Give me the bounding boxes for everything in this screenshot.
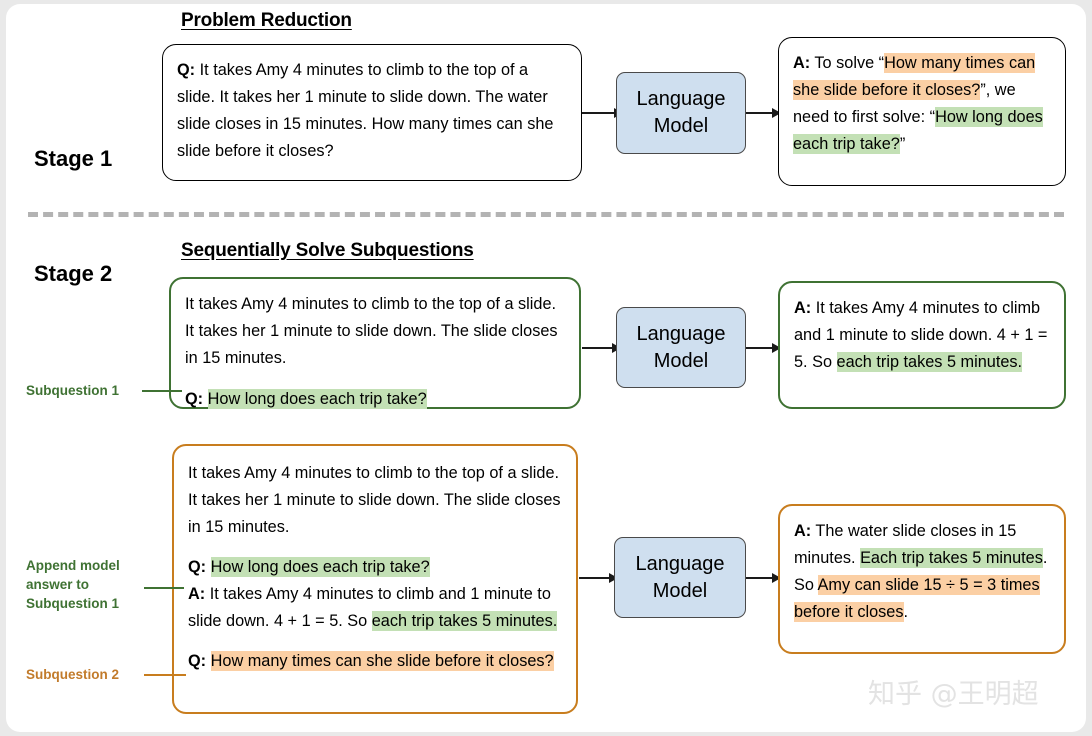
language-model-box-stage1: Language Model (616, 72, 746, 154)
stage-1-question-box: Q: It takes Amy 4 minutes to climb to th… (162, 44, 582, 181)
stage-2-section-title: Sequentially Solve Subquestions (181, 240, 474, 262)
append-answer-connector (144, 587, 184, 589)
stage-1-answer-text: A: To solve “How many times can she slid… (793, 50, 1051, 158)
stage-2-label: Stage 2 (34, 261, 112, 287)
round2-q1-prefix: Q: (188, 558, 206, 576)
stage-1-section-title: Problem Reduction (181, 10, 352, 32)
subquestion-1-prompt-box: It takes Amy 4 minutes to climb to the t… (169, 277, 581, 409)
round1-q-highlight: How long does each trip take? (208, 389, 427, 409)
language-model-label: Language Model (617, 321, 745, 375)
round2-context: It takes Amy 4 minutes to climb to the t… (188, 460, 562, 541)
round2-answer-text: A: The water slide closes in 15 minutes.… (794, 518, 1050, 626)
round2-a1-prefix: A: (188, 585, 205, 603)
language-model-box-stage2-round2: Language Model (614, 537, 746, 618)
round2-a-highlight-orange: Amy can slide 15 ÷ 5 = 3 times before it… (794, 575, 1040, 622)
round1-question: Q: How long does each trip take? (185, 386, 565, 413)
round2-a-seg3: . (904, 603, 909, 621)
answer-seg-1: To solve “ (810, 54, 884, 72)
subquestion-2-prompt-box: It takes Amy 4 minutes to climb to the t… (172, 444, 578, 714)
round2-q2-highlight: How many times can she slide before it c… (211, 651, 554, 671)
subquestion-1-answer-box: A: It takes Amy 4 minutes to climb and 1… (778, 281, 1066, 409)
stage-1-answer-box: A: To solve “How many times can she slid… (778, 37, 1066, 186)
round1-context: It takes Amy 4 minutes to climb to the t… (185, 291, 565, 372)
subquestion-2-connector (144, 674, 186, 676)
answer-prefix: A: (793, 54, 810, 72)
round1-space (203, 390, 208, 408)
figure-card: Stage 1 Problem Reduction Q: It takes Am… (6, 4, 1086, 732)
round2-appended-qa: Q: How long does each trip take?A: It ta… (188, 554, 562, 635)
round1-q-prefix: Q: (185, 390, 203, 408)
round2-a-prefix: A: (794, 522, 811, 540)
round2-a-highlight-green: Each trip takes 5 minutes (860, 548, 1043, 568)
round2-question: Q: How many times can she slide before i… (188, 648, 562, 675)
subquestion-2-answer-box: A: The water slide closes in 15 minutes.… (778, 504, 1066, 654)
language-model-label: Language Model (615, 551, 745, 605)
answer-seg-3: ” (900, 135, 905, 153)
round1-answer-text: A: It takes Amy 4 minutes to climb and 1… (794, 295, 1050, 376)
round1-a-highlight: each trip takes 5 minutes. (837, 352, 1023, 372)
round1-a-prefix: A: (794, 299, 811, 317)
subquestion-2-label: Subquestion 2 (26, 666, 119, 684)
language-model-box-stage2-round1: Language Model (616, 307, 746, 388)
stage-1-label: Stage 1 (34, 146, 112, 172)
stage-1-question-text: Q: It takes Amy 4 minutes to climb to th… (177, 57, 567, 165)
language-model-label: Language Model (617, 86, 745, 140)
sp2 (206, 652, 211, 670)
append-answer-label: Append model answer to Subquestion 1 (26, 556, 146, 613)
round2-q2-prefix: Q: (188, 652, 206, 670)
round2-q1-highlight: How long does each trip take? (211, 557, 430, 577)
watermark: 知乎 @王明超 (868, 672, 1039, 711)
subquestion-1-label: Subquestion 1 (26, 382, 119, 400)
question-body: It takes Amy 4 minutes to climb to the t… (177, 61, 553, 160)
subquestion-1-connector (142, 390, 182, 392)
sp1 (206, 558, 211, 576)
question-prefix: Q: (177, 61, 195, 79)
stage-divider (28, 212, 1064, 217)
round2-a1-highlight: each trip takes 5 minutes. (372, 611, 558, 631)
